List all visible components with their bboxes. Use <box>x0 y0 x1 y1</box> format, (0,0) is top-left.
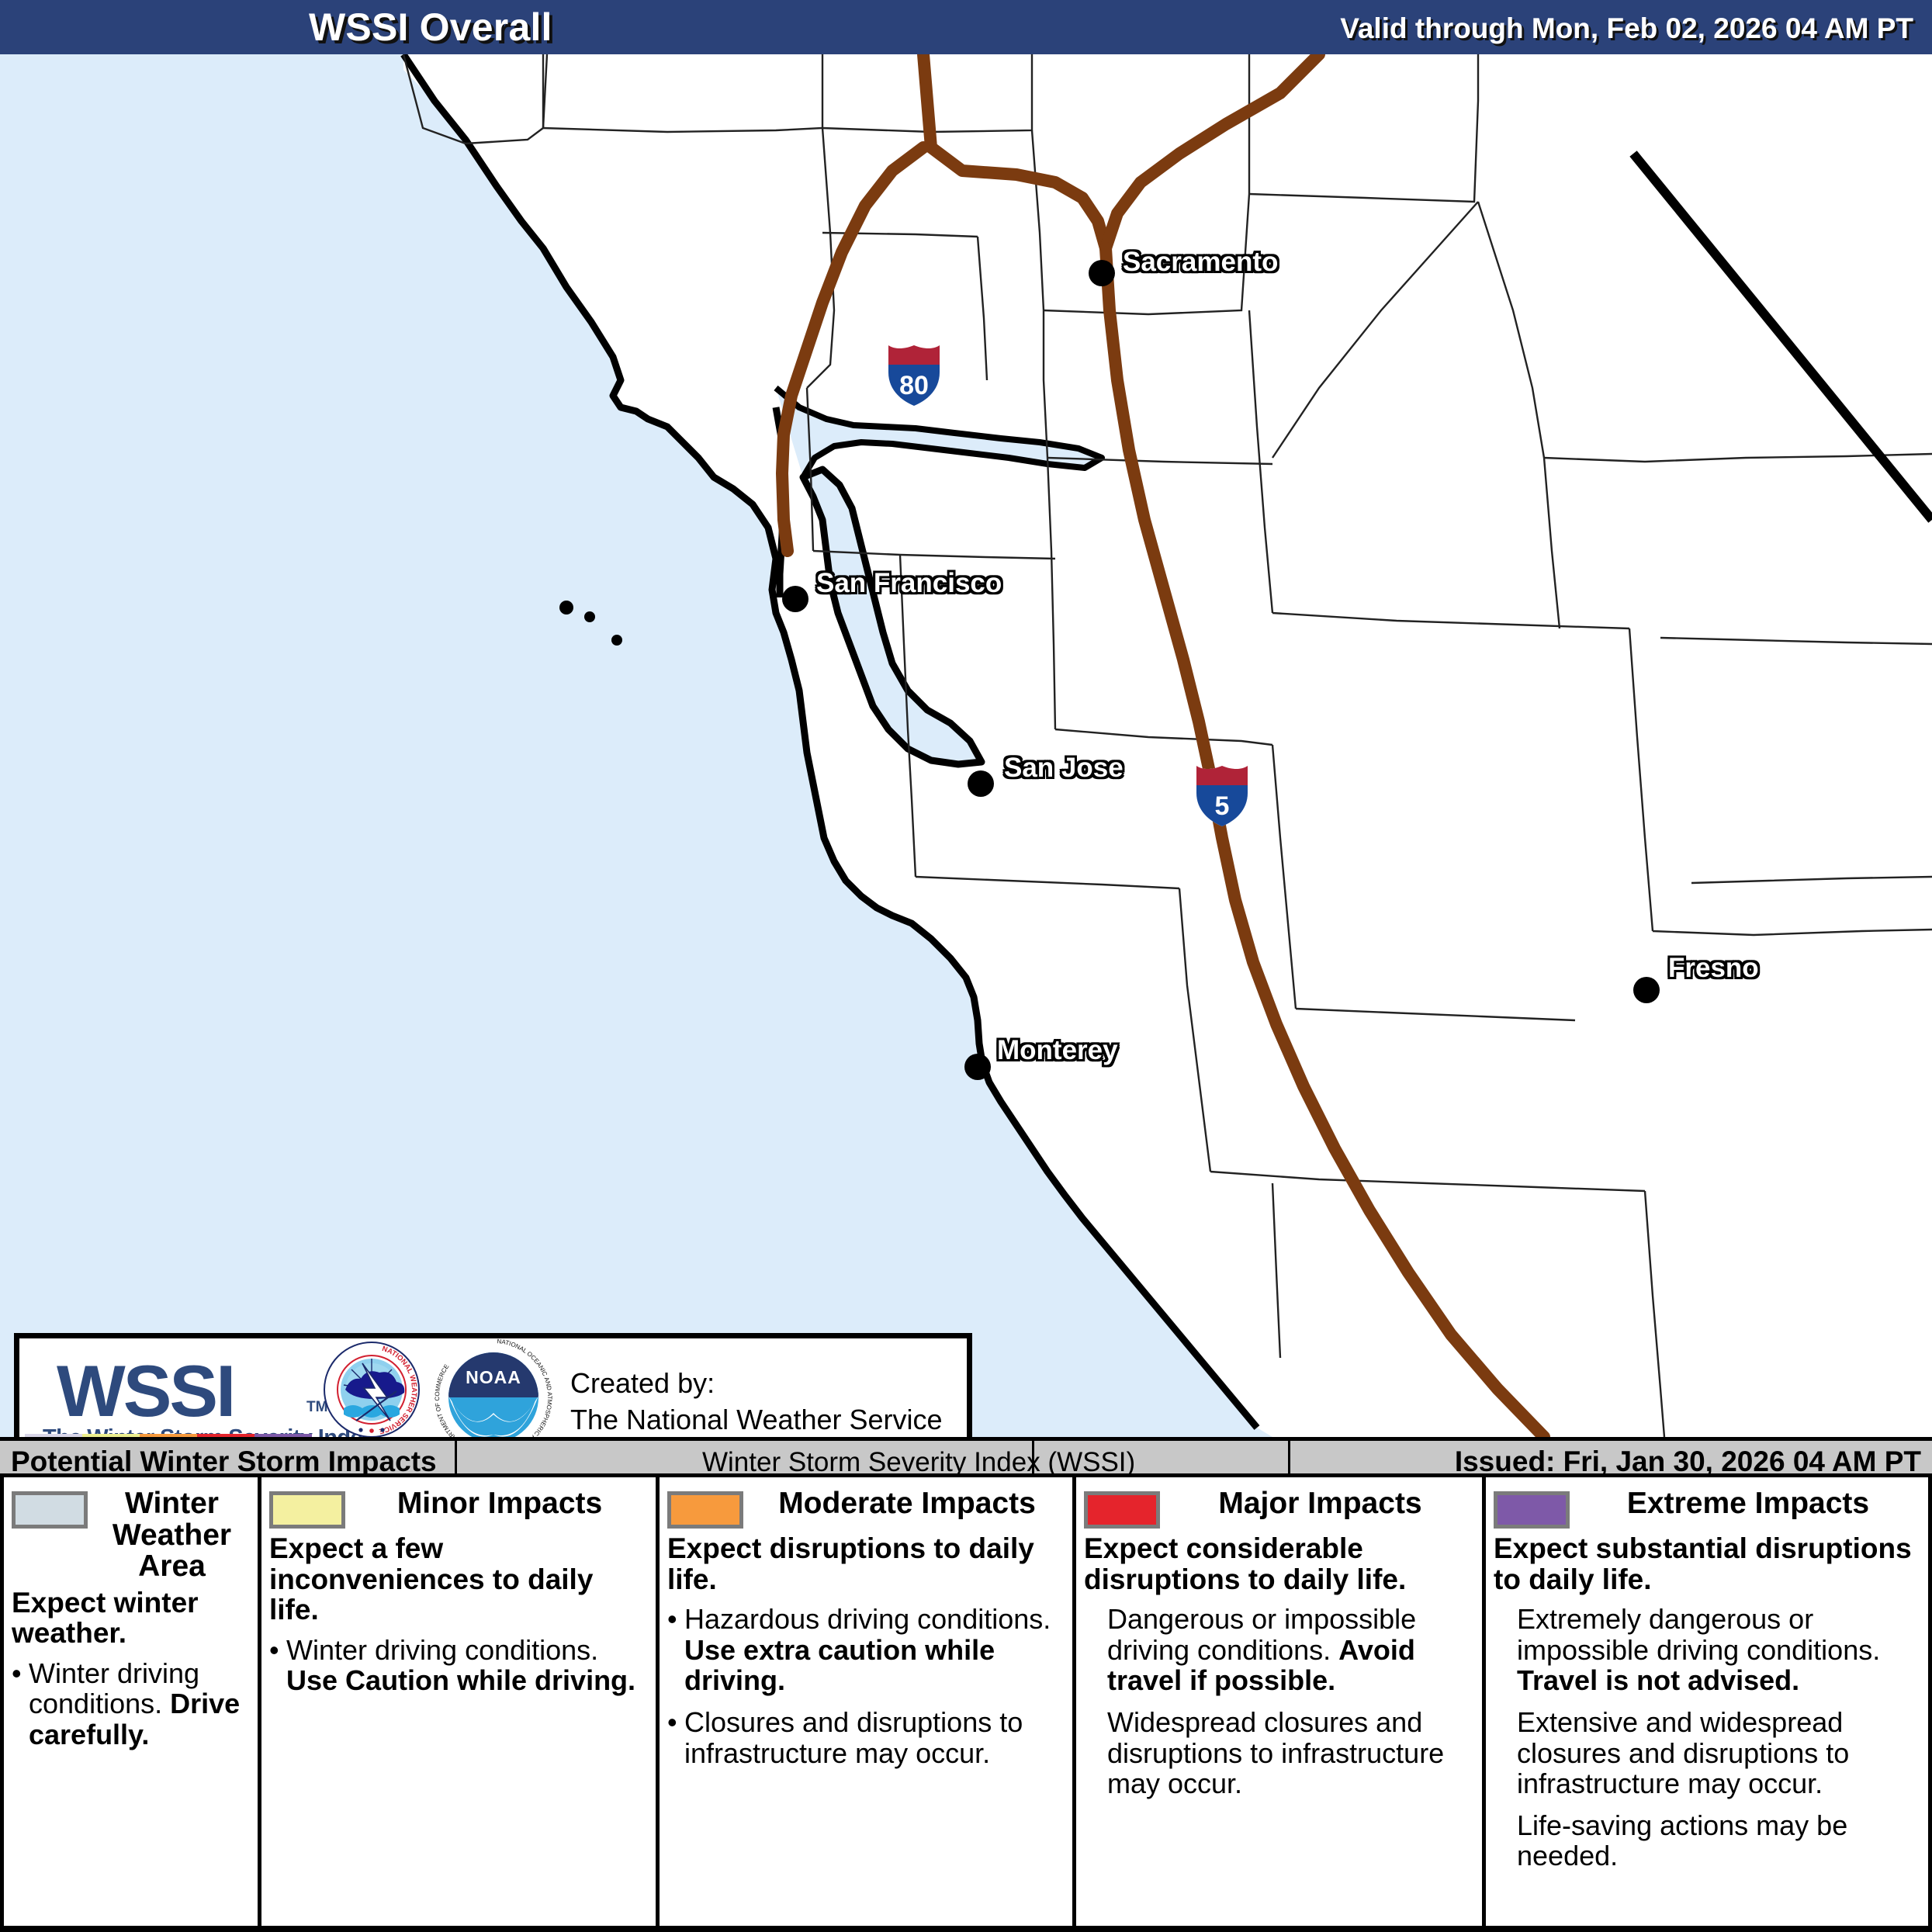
legend-item: Extremely dangerous or impossible drivin… <box>1494 1604 1919 1696</box>
item-plain: Extensive and widespread closures and di… <box>1517 1706 1849 1799</box>
legend-column-major-impacts[interactable]: Major Impacts Expect considerable disrup… <box>1072 1477 1482 1926</box>
status-divider-1 <box>455 1441 457 1481</box>
created-by-line1: Created by: <box>570 1366 943 1402</box>
legend-column-extreme-impacts[interactable]: Extreme Impacts Expect substantial disru… <box>1482 1477 1932 1926</box>
city-dot-sacramento <box>1089 260 1115 286</box>
legend-item: Life-saving actions may be needed. <box>1494 1810 1919 1871</box>
map-graphic <box>0 54 1932 1437</box>
swatch-minor-impacts <box>269 1491 345 1529</box>
status-bar-right: Issued: Fri, Jan 30, 2026 04 AM PT <box>1455 1446 1921 1478</box>
page-title: WSSI Overall <box>309 5 552 50</box>
legend-item: • Closures and disruptions to infrastruc… <box>667 1707 1063 1768</box>
created-by-line2: The National Weather Service <box>570 1402 943 1437</box>
status-bar: Potential Winter Storm Impacts Winter St… <box>0 1437 1932 1477</box>
city-label-monterey: Monterey <box>997 1035 1118 1066</box>
indent-spacer <box>1494 1604 1517 1696</box>
wssi-page: WSSI Overall Valid through Mon, Feb 02, … <box>0 0 1932 1932</box>
legend-item: • Hazardous driving conditions. Use extr… <box>667 1604 1063 1696</box>
legend-lead-winter-weather-area: Expect winter weather. <box>12 1587 248 1649</box>
city-dot-fresno <box>1633 977 1660 1003</box>
indent-spacer <box>1494 1707 1517 1799</box>
legend-title-major-impacts: Major Impacts <box>1168 1488 1473 1520</box>
city-dot-monterey <box>964 1054 991 1080</box>
swatch-extreme-impacts <box>1494 1491 1570 1529</box>
item-plain: Hazardous driving conditions. <box>684 1603 1051 1635</box>
legend-column-winter-weather-area[interactable]: Winter Weather Area Expect winter weathe… <box>0 1477 258 1926</box>
interstate-5-shield: 5 <box>1193 762 1252 829</box>
city-dot-san-jose <box>968 770 994 797</box>
page-header: WSSI Overall Valid through Mon, Feb 02, … <box>0 0 1932 54</box>
legend-lead-extreme-impacts: Expect substantial disruptions to daily … <box>1494 1533 1919 1594</box>
city-dot-san-francisco <box>782 586 808 612</box>
svg-text:5: 5 <box>1215 791 1230 821</box>
indent-spacer <box>1084 1604 1107 1696</box>
legend-lead-moderate-impacts: Expect disruptions to daily life. <box>667 1533 1063 1594</box>
legend-title-moderate-impacts: Moderate Impacts <box>751 1488 1063 1520</box>
interstate-80-shield: 80 <box>885 341 943 408</box>
item-bold: Use Caution while driving. <box>286 1664 635 1696</box>
status-divider-3 <box>1288 1441 1290 1481</box>
item-plain: Widespread closures and disruptions to i… <box>1107 1706 1444 1799</box>
wssi-wordmark: WSSI <box>57 1349 234 1433</box>
created-by-block: Created by: The National Weather Service… <box>570 1366 943 1437</box>
legend-item: Extensive and widespread closures and di… <box>1494 1707 1919 1799</box>
swatch-winter-weather-area <box>12 1491 88 1529</box>
legend-lead-minor-impacts: Expect a few inconveniences to daily lif… <box>269 1533 646 1626</box>
legend-item: Dangerous or impossible driving conditio… <box>1084 1604 1473 1696</box>
item-plain: Closures and disruptions to infrastructu… <box>684 1706 1023 1769</box>
indent-spacer <box>1494 1810 1517 1871</box>
valid-through-label: Valid through Mon, Feb 02, 2026 04 AM PT <box>1340 12 1913 45</box>
bullet-icon: • <box>667 1707 684 1768</box>
bullet-icon: • <box>269 1635 286 1696</box>
legend-item: • Winter driving conditions. Use Caution… <box>269 1635 646 1696</box>
item-plain: Extremely dangerous or impossible drivin… <box>1517 1603 1880 1666</box>
legend-title-extreme-impacts: Extreme Impacts <box>1577 1488 1919 1520</box>
item-bold: Travel is not advised. <box>1517 1664 1799 1696</box>
bullet-icon: • <box>12 1658 29 1750</box>
swatch-major-impacts <box>1084 1491 1160 1529</box>
legend-item: • Winter driving conditions. Drive caref… <box>12 1658 248 1750</box>
status-bar-middle: Winter Storm Severity Index (WSSI) <box>702 1447 1135 1478</box>
legend-column-moderate-impacts[interactable]: Moderate Impacts Expect disruptions to d… <box>656 1477 1072 1926</box>
swatch-moderate-impacts <box>667 1491 743 1529</box>
item-plain: Winter driving conditions. <box>286 1634 598 1666</box>
city-label-san-francisco: San Francisco <box>816 568 1002 599</box>
legend-title-winter-weather-area: Winter Weather Area <box>95 1488 248 1583</box>
bullet-icon: • <box>667 1604 684 1696</box>
city-label-san-jose: San Jose <box>1004 753 1124 784</box>
legend-item: Widespread closures and disruptions to i… <box>1084 1707 1473 1799</box>
city-label-sacramento: Sacramento <box>1123 247 1278 278</box>
national-weather-service-logo: NATIONAL WEATHER SERVICE <box>322 1340 421 1437</box>
legend-lead-major-impacts: Expect considerable disruptions to daily… <box>1084 1533 1473 1594</box>
legend-column-minor-impacts[interactable]: Minor Impacts Expect a few inconvenience… <box>258 1477 656 1926</box>
item-plain: Life-saving actions may be needed. <box>1517 1809 1847 1872</box>
impact-legend: Winter Weather Area Expect winter weathe… <box>0 1477 1932 1932</box>
status-bar-left: Potential Winter Storm Impacts <box>11 1446 437 1478</box>
status-divider-2 <box>1032 1441 1034 1481</box>
legend-title-minor-impacts: Minor Impacts <box>353 1488 646 1520</box>
svg-text:80: 80 <box>899 371 929 400</box>
indent-spacer <box>1084 1707 1107 1799</box>
svg-text:NOAA: NOAA <box>466 1367 521 1387</box>
item-bold: Use extra caution while driving. <box>684 1634 995 1697</box>
noaa-logo: NOAA NATIONAL OCEANIC AND ATMOSPHERIC AD… <box>435 1338 552 1437</box>
city-label-fresno: Fresno <box>1668 953 1759 984</box>
wssi-map[interactable]: 80 5 Sacramento San Francisco San Jose F… <box>0 54 1932 1437</box>
